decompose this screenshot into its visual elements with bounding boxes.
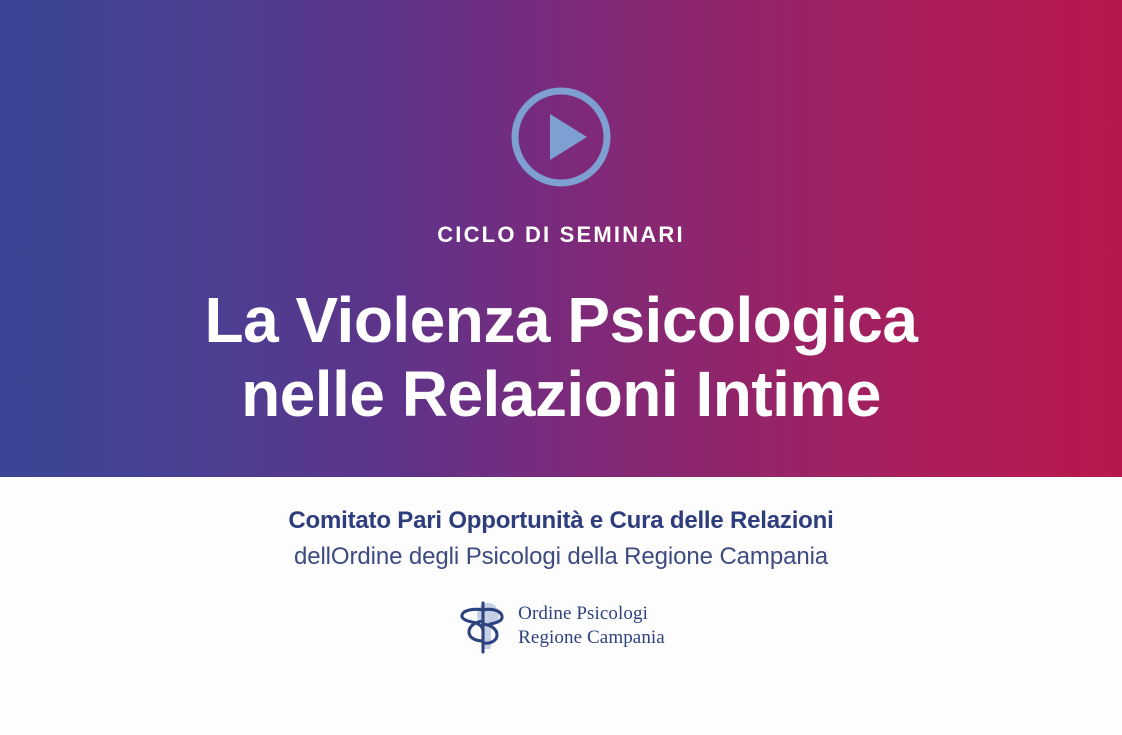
play-circle-icon[interactable] xyxy=(509,85,613,189)
logo-text-line-2: Regione Campania xyxy=(518,626,665,649)
organization-logo: Ordine Psicologi Regione Campania xyxy=(457,597,665,655)
footer-panel: Comitato Pari Opportunità e Cura delle R… xyxy=(0,477,1122,735)
seminar-video-card: CICLO DI SEMINARI La Violenza Psicologic… xyxy=(0,0,1122,735)
organization-subtitle: dellOrdine degli Psicologi della Regione… xyxy=(294,543,828,572)
page-title: La Violenza Psicologica nelle Relazioni … xyxy=(0,283,1122,431)
kicker-text: CICLO DI SEMINARI xyxy=(0,223,1122,247)
organization-title: Comitato Pari Opportunità e Cura delle R… xyxy=(288,507,833,536)
psi-caduceus-icon xyxy=(457,597,509,655)
logo-wordmark: Ordine Psicologi Regione Campania xyxy=(518,602,665,648)
title-line-1: La Violenza Psicologica xyxy=(0,283,1122,357)
title-line-2: nelle Relazioni Intime xyxy=(0,357,1122,431)
logo-text-line-1: Ordine Psicologi xyxy=(518,602,665,625)
hero-banner: CICLO DI SEMINARI La Violenza Psicologic… xyxy=(0,0,1122,477)
